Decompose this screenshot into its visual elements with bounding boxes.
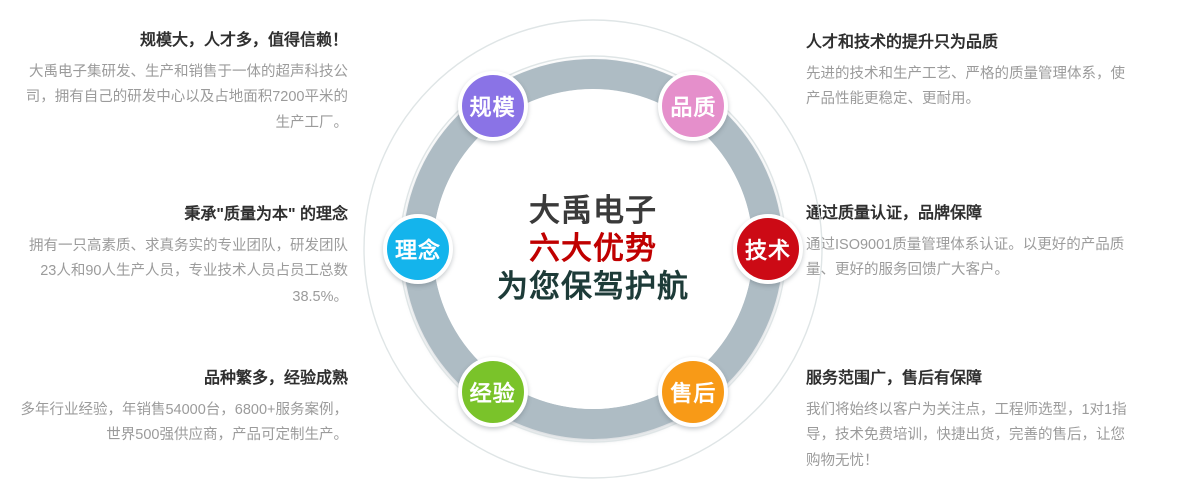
feature-body: 大禹电子集研发、生产和销售于一体的超声科技公司，拥有自己的研发中心以及占地面积7…	[18, 60, 348, 137]
badge-technology[interactable]: 技术	[733, 214, 803, 284]
badge-label: 技术	[745, 233, 791, 265]
badge-label: 经验	[470, 376, 516, 408]
badge-label: 品质	[670, 90, 716, 122]
feature-title: 人才和技术的提升只为品质	[806, 32, 1136, 54]
feature-title: 品种繁多，经验成熟	[18, 368, 348, 390]
badge-quality[interactable]: 品质	[658, 71, 728, 141]
center-headline-line-1: 大禹电子	[529, 192, 657, 230]
badge-label: 理念	[395, 233, 441, 265]
feature-block-experience: 品种繁多，经验成熟 多年行业经验，年销售54000台，6800+服务案例，世界5…	[18, 368, 348, 449]
feature-body: 我们将始终以客户为关注点，工程师选型，1对1指导，技术免费培训，快捷出货，完善的…	[806, 398, 1136, 475]
center-headline-line-2: 六大优势	[529, 230, 657, 268]
feature-title: 规模大，人才多，值得信赖！	[18, 30, 348, 52]
center-headline-line-3: 为您保驾护航	[497, 268, 689, 306]
badge-philosophy[interactable]: 理念	[383, 214, 453, 284]
badge-scale[interactable]: 规模	[458, 71, 528, 141]
badge-label: 售后	[670, 376, 716, 408]
feature-body: 拥有一只高素质、求真务实的专业团队，研发团队23人和90人生产人员，专业技术人员…	[18, 234, 348, 311]
feature-title: 服务范围广，售后有保障	[806, 368, 1136, 390]
badge-experience[interactable]: 经验	[458, 357, 528, 427]
feature-block-quality: 人才和技术的提升只为品质 先进的技术和生产工艺、严格的质量管理体系，使产品性能更…	[806, 32, 1136, 113]
feature-title: 通过质量认证，品牌保障	[806, 203, 1136, 225]
infographic-canvas: 规模大，人才多，值得信赖！ 大禹电子集研发、生产和销售于一体的超声科技公司，拥有…	[0, 0, 1200, 492]
badge-label: 规模	[470, 90, 516, 122]
feature-body: 先进的技术和生产工艺、严格的质量管理体系，使产品性能更稳定、更耐用。	[806, 62, 1136, 114]
feature-title: 秉承"质量为本" 的理念	[18, 204, 348, 226]
feature-block-aftersales: 服务范围广，售后有保障 我们将始终以客户为关注点，工程师选型，1对1指导，技术免…	[806, 368, 1136, 475]
feature-block-philosophy: 秉承"质量为本" 的理念 拥有一只高素质、求真务实的专业团队，研发团队23人和9…	[18, 204, 348, 311]
circular-diagram: 大禹电子 六大优势 为您保驾护航 规模品质技术售后经验理念	[360, 16, 826, 482]
feature-body: 多年行业经验，年销售54000台，6800+服务案例，世界500强供应商，产品可…	[18, 398, 348, 450]
feature-block-certification: 通过质量认证，品牌保障 通过ISO9001质量管理体系认证。以更好的产品质量、更…	[806, 203, 1136, 284]
feature-body: 通过ISO9001质量管理体系认证。以更好的产品质量、更好的服务回馈广大客户。	[806, 233, 1136, 285]
feature-block-scale: 规模大，人才多，值得信赖！ 大禹电子集研发、生产和销售于一体的超声科技公司，拥有…	[18, 30, 348, 137]
